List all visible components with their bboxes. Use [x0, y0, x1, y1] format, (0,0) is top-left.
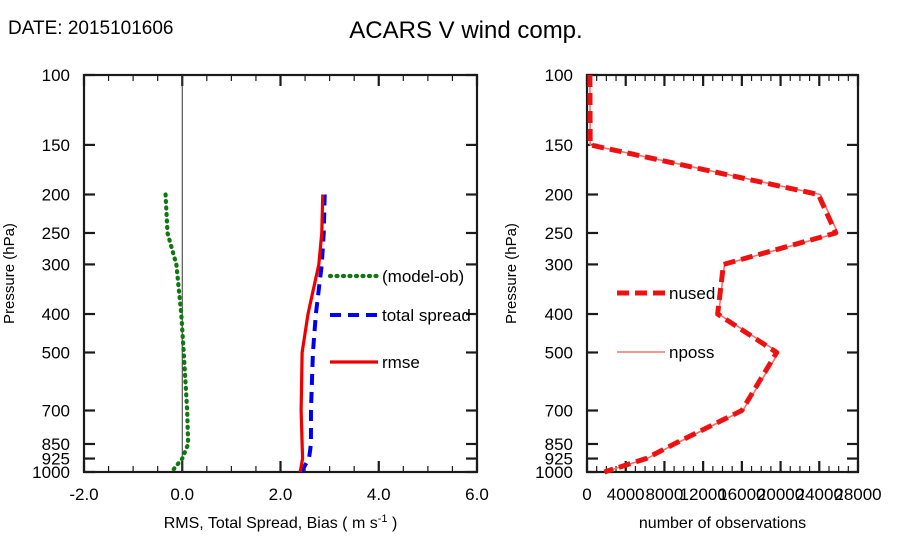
legend-label-nposs: nposs	[669, 343, 714, 362]
x-tick-label: -2.0	[69, 485, 98, 504]
figure-canvas: DATE: 2015101606ACARS V wind comp.-2.00.…	[0, 0, 900, 560]
y-tick-label: 250	[545, 224, 573, 243]
y-tick-label: 100	[545, 66, 573, 85]
y-axis-label: Pressure (hPa)	[503, 223, 520, 324]
legend-label-nused: nused	[669, 284, 715, 303]
y-tick-label: 150	[545, 136, 573, 155]
figure-root: DATE: 2015101606ACARS V wind comp.-2.00.…	[0, 0, 900, 560]
y-tick-label: 250	[42, 224, 70, 243]
x-axis-label: RMS, Total Spread, Bias ( m s-1 )	[164, 513, 398, 532]
y-axis-label: Pressure (hPa)	[1, 223, 18, 324]
x-tick-label: 6.0	[465, 485, 489, 504]
y-tick-label: 500	[545, 343, 573, 362]
x-tick-label: 4000	[607, 485, 645, 504]
series-line-nused	[590, 75, 836, 472]
y-tick-label: 200	[42, 186, 70, 205]
x-tick-label: 8000	[646, 485, 684, 504]
panel-counts-panel	[587, 75, 858, 472]
chart-title: ACARS V wind comp.	[349, 17, 582, 44]
y-tick-label: 1000	[32, 463, 70, 482]
series-line-bias	[166, 195, 189, 472]
x-tick-label: 4.0	[367, 485, 391, 504]
x-tick-label: 0	[582, 485, 591, 504]
y-tick-label: 400	[545, 305, 573, 324]
legend-label-rmse: rmse	[382, 353, 420, 372]
x-tick-label: 0.0	[170, 485, 194, 504]
y-tick-label: 150	[42, 136, 70, 155]
x-axis-label: number of observations	[639, 515, 806, 532]
x-tick-label: 2.0	[269, 485, 293, 504]
date-label: DATE: 2015101606	[8, 18, 174, 39]
y-tick-label: 700	[545, 402, 573, 421]
legend-label-bias: (model-ob)	[382, 267, 464, 286]
y-tick-label: 400	[42, 305, 70, 324]
x-tick-label: 28000	[834, 485, 881, 504]
y-tick-label: 1000	[535, 463, 573, 482]
y-tick-label: 300	[545, 255, 573, 274]
y-tick-label: 300	[42, 255, 70, 274]
y-tick-label: 700	[42, 402, 70, 421]
legend-label-spread: total spread	[382, 306, 471, 325]
y-tick-label: 100	[42, 66, 70, 85]
y-tick-label: 200	[545, 186, 573, 205]
series-line-nposs	[590, 75, 838, 472]
y-tick-label: 500	[42, 343, 70, 362]
